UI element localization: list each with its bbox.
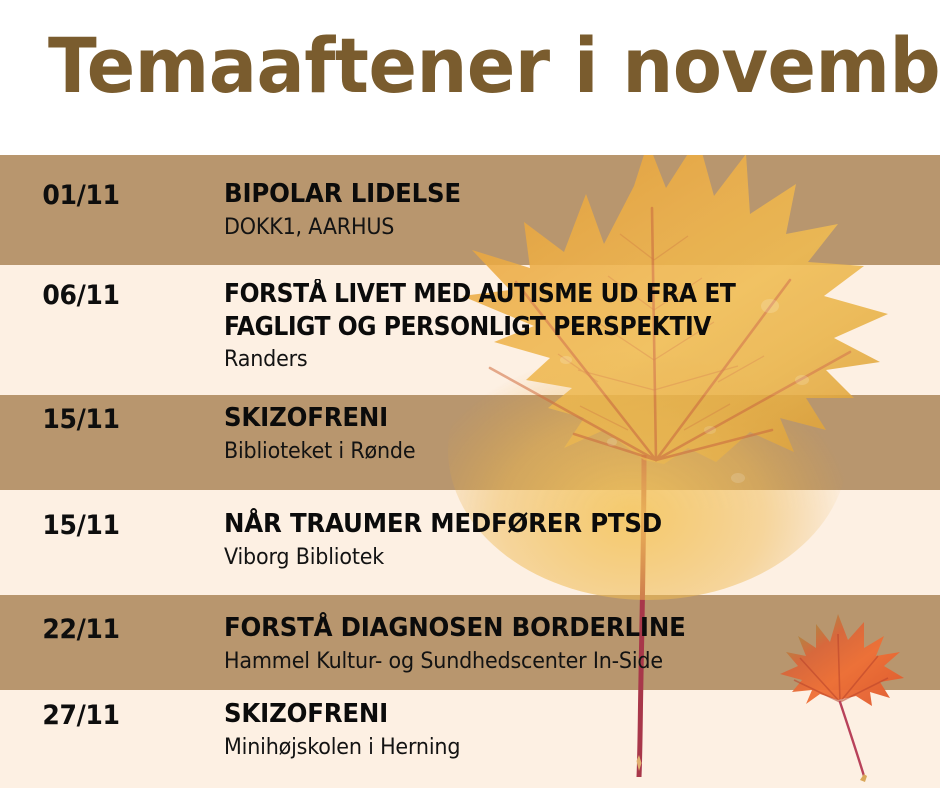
event-title: BIPOLAR LIDELSE — [224, 178, 897, 211]
event-body: SKIZOFRENI Minihøjskolen i Herning — [162, 698, 940, 763]
event-body: SKIZOFRENI Biblioteket i Rønde — [162, 402, 940, 467]
event-venue: Viborg Bibliotek — [224, 544, 897, 573]
event-body: NÅR TRAUMER MEDFØRER PTSD Viborg Bibliot… — [162, 508, 940, 573]
title-banner: Temaaftener i november — [0, 0, 940, 155]
event-venue: Minihøjskolen i Herning — [224, 734, 897, 763]
event-title: SKIZOFRENI — [224, 698, 897, 731]
event-date: 01/11 — [6, 178, 157, 211]
list-item[interactable]: 27/11 SKIZOFRENI Minihøjskolen i Herning — [0, 698, 940, 763]
event-title: SKIZOFRENI — [224, 402, 897, 435]
event-body: FORSTÅ DIAGNOSEN BORDERLINE Hammel Kultu… — [162, 612, 940, 677]
list-item[interactable]: 01/11 BIPOLAR LIDELSE DOKK1, AARHUS — [0, 178, 940, 243]
event-title: FORSTÅ LIVET MED AUTISME UD FRA ET FAGLI… — [224, 278, 794, 343]
event-venue: Randers — [224, 346, 897, 375]
event-date: 15/11 — [6, 402, 157, 435]
event-venue: DOKK1, AARHUS — [224, 214, 897, 243]
event-title: FORSTÅ DIAGNOSEN BORDERLINE — [224, 612, 897, 645]
event-venue: Biblioteket i Rønde — [224, 438, 897, 467]
event-date: 27/11 — [6, 698, 157, 731]
event-body: BIPOLAR LIDELSE DOKK1, AARHUS — [162, 178, 940, 243]
event-title: NÅR TRAUMER MEDFØRER PTSD — [224, 508, 897, 541]
event-date: 15/11 — [6, 508, 157, 541]
event-date: 22/11 — [6, 612, 157, 645]
list-item[interactable]: 06/11 FORSTÅ LIVET MED AUTISME UD FRA ET… — [0, 278, 940, 375]
list-item[interactable]: 15/11 NÅR TRAUMER MEDFØRER PTSD Viborg B… — [0, 508, 940, 573]
event-venue: Hammel Kultur- og Sundhedscenter In-Side — [224, 648, 897, 677]
event-body: FORSTÅ LIVET MED AUTISME UD FRA ET FAGLI… — [162, 278, 940, 375]
list-item[interactable]: 22/11 FORSTÅ DIAGNOSEN BORDERLINE Hammel… — [0, 612, 940, 677]
event-date: 06/11 — [6, 278, 157, 311]
list-item[interactable]: 15/11 SKIZOFRENI Biblioteket i Rønde — [0, 402, 940, 467]
poster-canvas: Temaaftener i november 01/11 BIPOLAR LID… — [0, 0, 940, 788]
page-title: Temaaftener i november — [48, 22, 940, 109]
